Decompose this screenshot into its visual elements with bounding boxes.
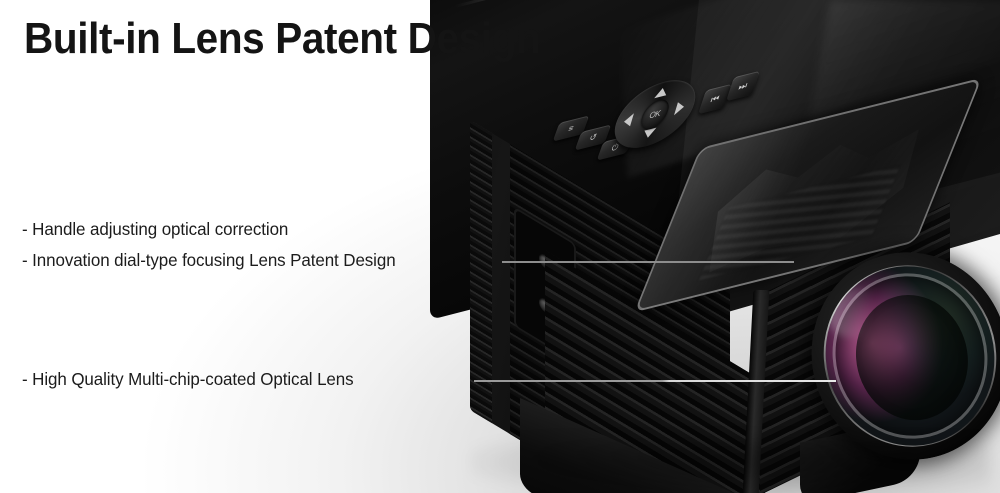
next-track-button[interactable]: ⏭ xyxy=(726,71,760,101)
callout-dial: - Innovation dial-type focusing Lens Pat… xyxy=(22,250,396,271)
projector-product-image: ≡ ↺ ⏻ OK ⏮ ⏭ xyxy=(0,0,1000,493)
callout-handle: - Handle adjusting optical correction xyxy=(22,219,288,240)
leader-line-lens xyxy=(474,380,836,382)
leader-line-dial xyxy=(502,261,794,263)
page-title: Built-in Lens Patent Design xyxy=(24,14,540,64)
product-feature-banner: ≡ ↺ ⏻ OK ⏮ ⏭ Built-in Lens Patent Design… xyxy=(0,0,1000,493)
callout-lens: - High Quality Multi-chip-coated Optical… xyxy=(22,369,354,390)
projector-control-panel: ≡ ↺ ⏻ OK ⏮ ⏭ xyxy=(0,0,1000,493)
directional-pad[interactable]: OK xyxy=(606,72,703,156)
